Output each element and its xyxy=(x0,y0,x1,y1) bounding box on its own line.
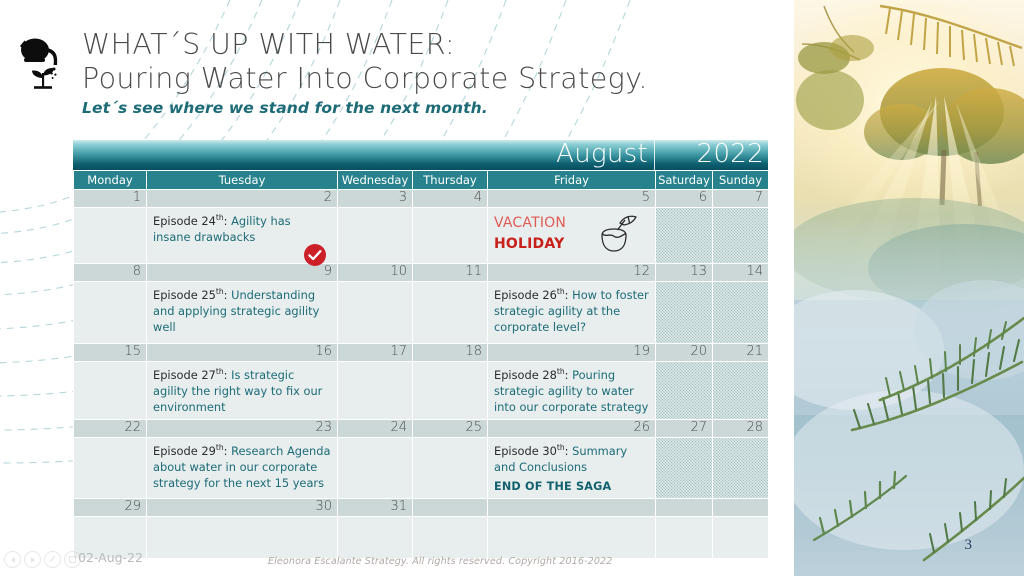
event-lead: Episode 27th: xyxy=(153,368,231,382)
date-cell: 20 xyxy=(656,344,713,362)
calendar-header-row: Monday Tuesday Wednesday Thursday Friday… xyxy=(74,171,769,190)
event-cell-monday[interactable] xyxy=(74,282,147,344)
date-cell: 28 xyxy=(713,419,769,437)
date-cell: 5 xyxy=(488,190,656,208)
event-episode-28: Episode 28th: Pouring strategic agility … xyxy=(494,367,649,416)
event-cell-sunday-hatched xyxy=(713,362,769,420)
date-cell: 4 xyxy=(413,190,488,208)
event-cell-thursday[interactable] xyxy=(413,362,488,420)
event-cell-friday[interactable]: Episode 30th: Summary and Conclusions EN… xyxy=(488,437,656,498)
event-lead: Episode 26th: xyxy=(494,288,572,302)
event-cell-thursday[interactable] xyxy=(413,208,488,264)
decorative-photo-panel: 3 xyxy=(779,0,1024,576)
event-episode-27: Episode 27th: Is strategic agility the r… xyxy=(153,367,331,416)
event-cell-sunday-hatched xyxy=(713,437,769,498)
calendar-title-divider xyxy=(654,140,655,170)
presenter-controls[interactable] xyxy=(4,551,81,568)
event-cell-wednesday[interactable] xyxy=(338,282,413,344)
date-cell xyxy=(488,498,656,516)
date-row-week-3: 15 16 17 18 19 20 21 xyxy=(74,344,769,362)
event-cell-saturday-hatched xyxy=(656,437,713,498)
event-cell-friday[interactable]: Episode 26th: How to foster strategic ag… xyxy=(488,282,656,344)
event-cell-friday[interactable]: VACATION HOLIDAY xyxy=(488,208,656,264)
date-cell: 8 xyxy=(74,264,147,282)
page-title-line-1: WHAT´S UP WITH WATER: xyxy=(82,28,772,62)
event-cell-thursday[interactable] xyxy=(413,516,488,558)
event-cell-saturday-hatched xyxy=(656,362,713,420)
event-cell-saturday[interactable] xyxy=(656,516,713,558)
date-cell: 11 xyxy=(413,264,488,282)
event-lead: Episode 25th: xyxy=(153,288,231,302)
event-episode-26: Episode 26th: How to foster strategic ag… xyxy=(494,287,649,336)
date-cell: 25 xyxy=(413,419,488,437)
event-row-week-5 xyxy=(74,516,769,558)
event-episode-29: Episode 29th: Research Agenda about wate… xyxy=(153,443,331,492)
event-lead: Episode 24th: xyxy=(153,214,231,228)
date-cell: 19 xyxy=(488,344,656,362)
event-lead-superscript: th xyxy=(216,213,224,222)
date-cell: 31 xyxy=(338,498,413,516)
event-lead: Episode 30th: xyxy=(494,444,572,458)
check-circle-icon xyxy=(303,243,327,267)
event-cell-tuesday[interactable]: Episode 24th: Agility has insane drawbac… xyxy=(147,208,338,264)
pen-tool-icon[interactable] xyxy=(44,551,61,568)
date-cell: 3 xyxy=(338,190,413,208)
event-cell-tuesday[interactable]: Episode 29th: Research Agenda about wate… xyxy=(147,437,338,498)
event-cell-saturday-hatched xyxy=(656,208,713,264)
calendar-title-bar: August 2022 xyxy=(73,140,768,170)
event-cell-thursday[interactable] xyxy=(413,282,488,344)
event-row-week-2: Episode 25th: Understanding and applying… xyxy=(74,282,769,344)
day-header-monday: Monday xyxy=(74,171,147,190)
date-cell: 16 xyxy=(147,344,338,362)
event-lead-superscript: th xyxy=(557,287,565,296)
event-cell-sunday[interactable] xyxy=(713,516,769,558)
page-title-line-2: Pouring Water Into Corporate Strategy. xyxy=(82,62,772,96)
date-cell: 22 xyxy=(74,419,147,437)
event-lead-superscript: th xyxy=(557,367,565,376)
date-row-week-2: 8 9 10 11 12 13 14 xyxy=(74,264,769,282)
calendar-table: Monday Tuesday Wednesday Thursday Friday… xyxy=(73,170,769,559)
day-header-saturday: Saturday xyxy=(656,171,713,190)
event-cell-wednesday[interactable] xyxy=(338,208,413,264)
event-cell-thursday[interactable] xyxy=(413,437,488,498)
page-number: 3 xyxy=(965,537,973,554)
date-cell xyxy=(413,498,488,516)
event-cell-monday[interactable] xyxy=(74,437,147,498)
date-cell: 24 xyxy=(338,419,413,437)
event-cell-monday[interactable] xyxy=(74,208,147,264)
event-cell-friday[interactable]: Episode 28th: Pouring strategic agility … xyxy=(488,362,656,420)
date-cell: 14 xyxy=(713,264,769,282)
coconut-drink-icon xyxy=(592,211,644,263)
day-header-thursday: Thursday xyxy=(413,171,488,190)
calendar-year-label: 2022 xyxy=(697,139,764,169)
event-row-week-1: Episode 24th: Agility has insane drawbac… xyxy=(74,208,769,264)
event-lead-superscript: th xyxy=(216,443,224,452)
date-row-week-1: 1 2 3 4 5 6 7 xyxy=(74,190,769,208)
date-cell: 6 xyxy=(656,190,713,208)
slide-menu-icon[interactable] xyxy=(64,551,81,568)
date-cell: 12 xyxy=(488,264,656,282)
event-cell-sunday-hatched xyxy=(713,282,769,344)
event-episode-24: Episode 24th: Agility has insane drawbac… xyxy=(153,213,331,245)
title-block: WHAT´S UP WITH WATER: Pouring Water Into… xyxy=(82,28,772,117)
event-lead: Episode 28th: xyxy=(494,368,572,382)
event-lead-superscript: th xyxy=(216,367,224,376)
event-lead: Episode 29th: xyxy=(153,444,231,458)
previous-slide-icon[interactable] xyxy=(4,551,21,568)
day-header-tuesday: Tuesday xyxy=(147,171,338,190)
event-episode-30: Episode 30th: Summary and Conclusions EN… xyxy=(494,443,649,495)
footer-copyright: Eleonora Escalante Strategy. All rights … xyxy=(268,556,612,567)
watering-can-plant-icon xyxy=(12,28,74,90)
event-cell-sunday-hatched xyxy=(713,208,769,264)
play-slide-icon[interactable] xyxy=(24,551,41,568)
event-cell-tuesday[interactable]: Episode 25th: Understanding and applying… xyxy=(147,282,338,344)
date-cell xyxy=(656,498,713,516)
day-header-friday: Friday xyxy=(488,171,656,190)
date-cell: 1 xyxy=(74,190,147,208)
event-lead-superscript: th xyxy=(216,287,224,296)
date-row-week-5: 29 30 31 xyxy=(74,498,769,516)
end-of-saga-label: END OF THE SAGA xyxy=(494,479,649,495)
day-header-wednesday: Wednesday xyxy=(338,171,413,190)
date-cell: 17 xyxy=(338,344,413,362)
date-cell: 21 xyxy=(713,344,769,362)
date-row-week-4: 22 23 24 25 26 27 28 xyxy=(74,419,769,437)
event-cell-wednesday[interactable] xyxy=(338,516,413,558)
date-cell: 7 xyxy=(713,190,769,208)
date-cell: 23 xyxy=(147,419,338,437)
date-cell: 26 xyxy=(488,419,656,437)
date-cell: 30 xyxy=(147,498,338,516)
day-header-sunday: Sunday xyxy=(713,171,769,190)
event-episode-25: Episode 25th: Understanding and applying… xyxy=(153,287,331,336)
date-cell: 27 xyxy=(656,419,713,437)
footer-date: 02-Aug-22 xyxy=(78,550,143,565)
event-cell-wednesday[interactable] xyxy=(338,362,413,420)
event-row-week-3: Episode 27th: Is strategic agility the r… xyxy=(74,362,769,420)
date-cell: 15 xyxy=(74,344,147,362)
vacation-block: VACATION HOLIDAY xyxy=(494,213,649,255)
date-cell: 2 xyxy=(147,190,338,208)
event-lead-superscript: th xyxy=(557,443,565,452)
event-cell-tuesday[interactable] xyxy=(147,516,338,558)
event-cell-tuesday[interactable]: Episode 27th: Is strategic agility the r… xyxy=(147,362,338,420)
date-cell: 13 xyxy=(656,264,713,282)
event-cell-friday[interactable] xyxy=(488,516,656,558)
event-cell-wednesday[interactable] xyxy=(338,437,413,498)
page-subtitle: Let´s see where we stand for the next mo… xyxy=(82,99,772,117)
event-cell-saturday-hatched xyxy=(656,282,713,344)
date-cell: 29 xyxy=(74,498,147,516)
event-row-week-4: Episode 29th: Research Agenda about wate… xyxy=(74,437,769,498)
calendar-month-label: August xyxy=(556,139,648,169)
date-cell: 18 xyxy=(413,344,488,362)
event-cell-monday[interactable] xyxy=(74,362,147,420)
date-cell: 10 xyxy=(338,264,413,282)
date-cell xyxy=(713,498,769,516)
calendar: August 2022 Monday Tuesday Wednesday Thu… xyxy=(73,140,768,559)
